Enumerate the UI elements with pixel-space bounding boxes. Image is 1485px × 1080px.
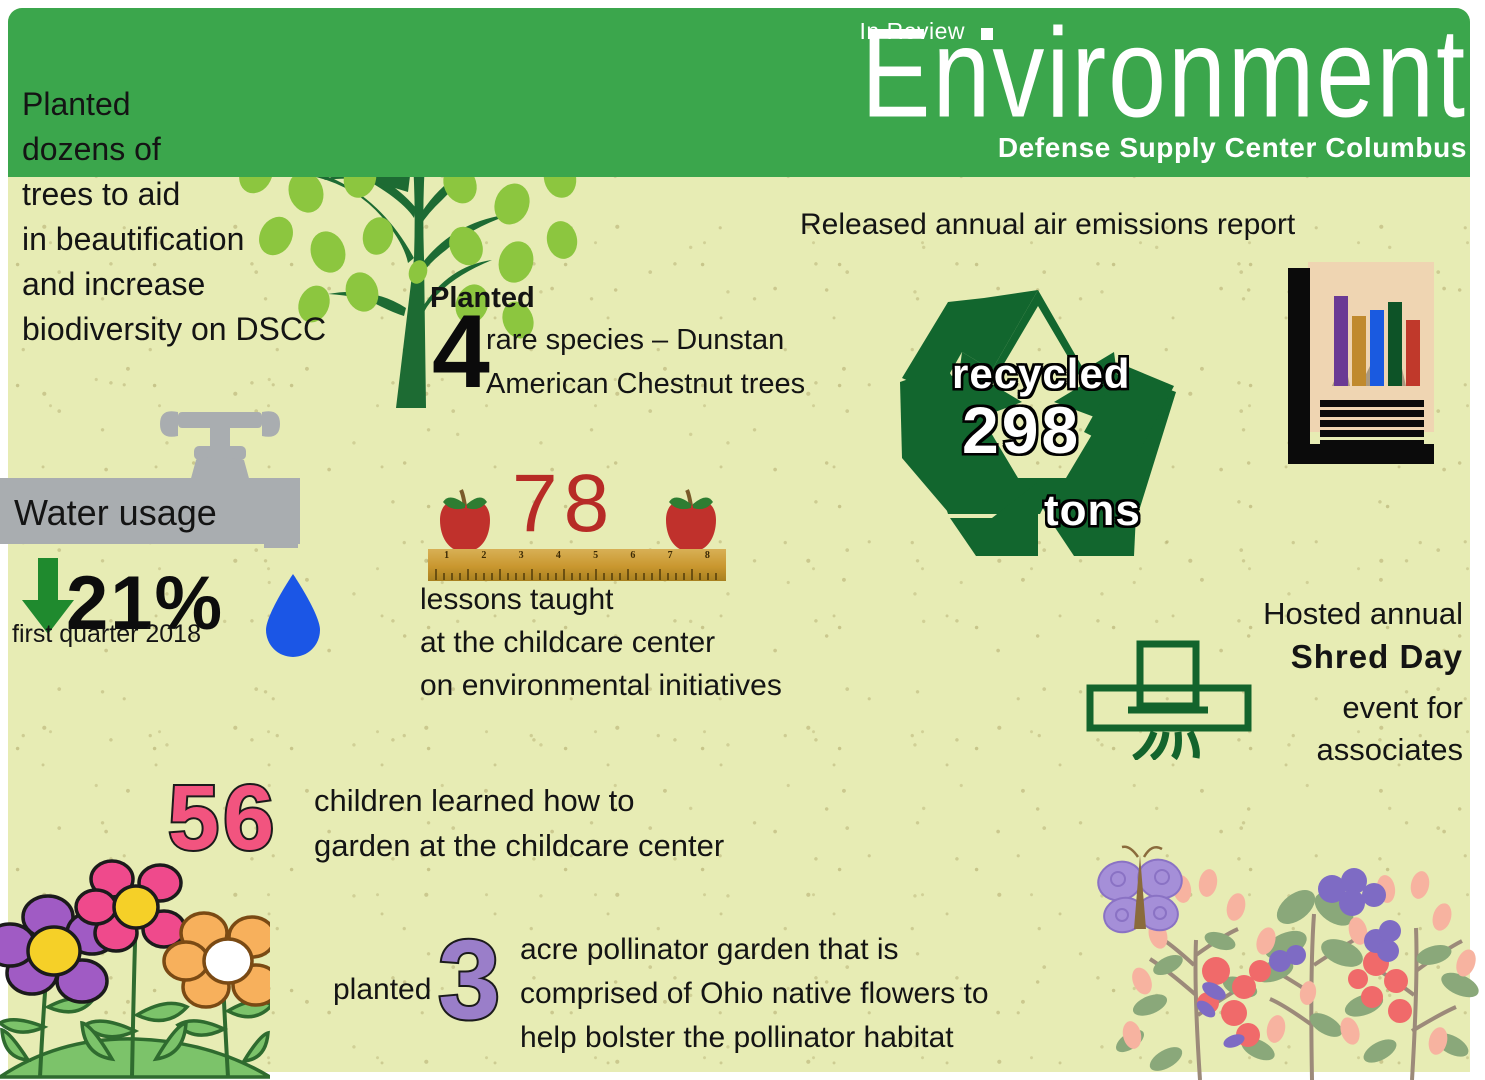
recycled-amount: 298: [962, 392, 1081, 468]
page-title: Environment: [861, 14, 1467, 135]
shred-line-1: Hosted annual: [1263, 596, 1463, 632]
ruler-tick-label: 5: [577, 550, 614, 564]
ruler-tick-label: 6: [614, 550, 651, 564]
apple-icon-left: [434, 488, 496, 556]
children-description: children learned how to garden at the ch…: [314, 778, 724, 868]
recycled-label: recycled: [952, 350, 1130, 398]
ruler-tick-label: 7: [652, 550, 689, 564]
water-drop-icon: [262, 572, 324, 660]
shred-day-title: Shred Day: [1291, 638, 1463, 676]
apple-icon-right: [660, 488, 722, 556]
lessons-description: lessons taught at the childcare center o…: [420, 578, 782, 707]
butterfly-icon: [1093, 847, 1187, 937]
wildflowers-illustration: [1090, 845, 1485, 1080]
recycled-unit: tons: [1044, 486, 1141, 536]
pollinator-description: acre pollinator garden that is comprised…: [520, 928, 989, 1060]
ruler-tick-label: 8: [689, 550, 726, 564]
trees-stat-number: 4: [432, 300, 490, 404]
report-document-icon: [1286, 258, 1436, 466]
intro-paragraph: Planted dozens of trees to aid in beauti…: [22, 82, 326, 352]
shred-line-3: event for: [1342, 690, 1463, 726]
paper-shredder-icon: [1082, 640, 1262, 760]
water-usage-label: Water usage: [14, 492, 217, 534]
pollinator-prefix: planted: [333, 973, 431, 1007]
ruler-tick-label: 2: [465, 550, 502, 564]
air-report-text: Released annual air emissions report: [800, 208, 1295, 242]
header-subtitle: Defense Supply Center Columbus: [998, 132, 1467, 164]
water-usage-period: first quarter 2018: [12, 620, 201, 649]
lessons-number: 78: [512, 463, 615, 545]
ruler-tick-label: 4: [540, 550, 577, 564]
cartoon-flowers-illustration: [0, 845, 270, 1080]
infographic-poster: In Review Environment Defense Supply Cen…: [0, 0, 1485, 1080]
ruler-icon: 1 2 3 4 5 6 7 8: [428, 549, 726, 581]
pollinator-number: 3: [438, 924, 500, 1036]
ruler-tick-label: 3: [503, 550, 540, 564]
trees-stat-description: rare species – Dunstan American Chestnut…: [486, 318, 805, 406]
ruler-tick-label: 1: [428, 550, 465, 564]
shred-line-4: associates: [1317, 732, 1463, 768]
